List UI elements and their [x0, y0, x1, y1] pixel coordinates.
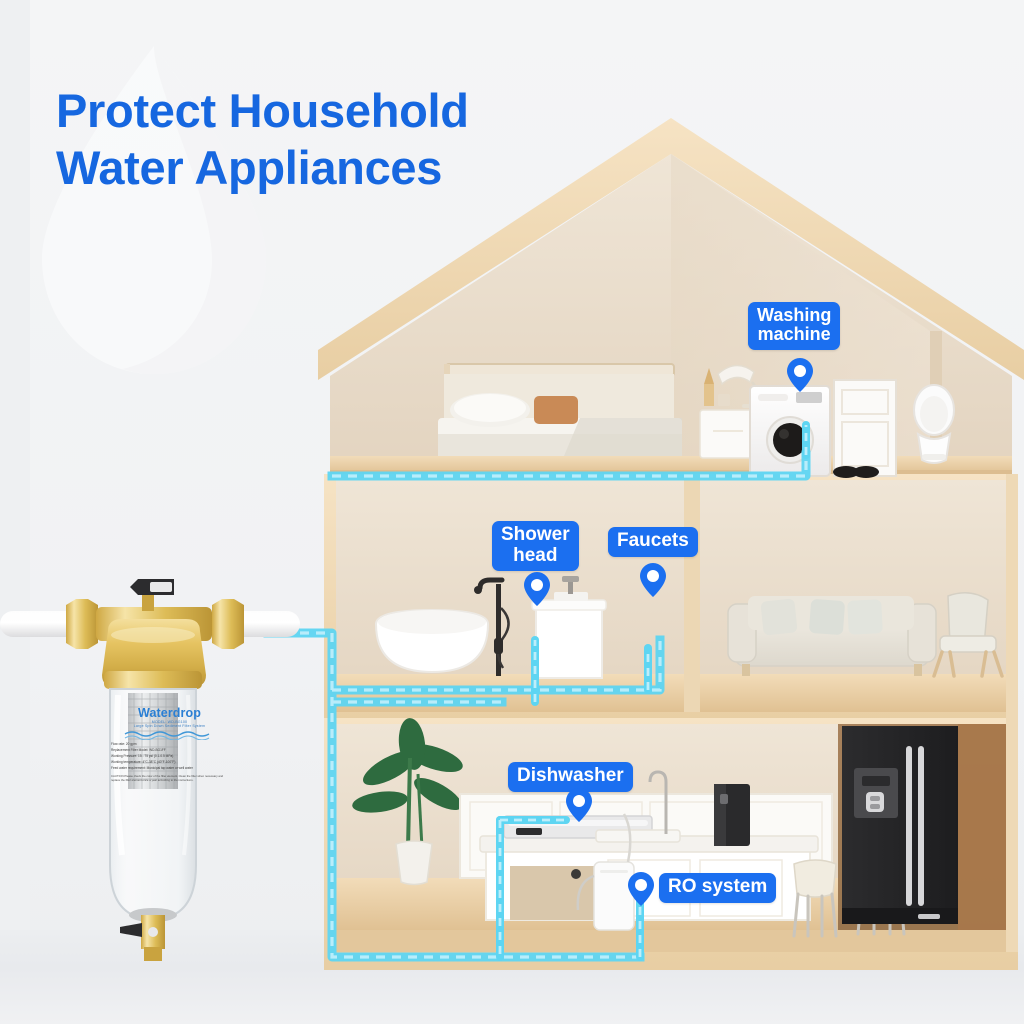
brand-name: Waterdrop: [111, 706, 228, 720]
house-right-edge: [1006, 474, 1018, 952]
valve-handle: [120, 923, 142, 937]
callout-faucets[interactable]: Faucets: [608, 527, 698, 557]
livingroom-floor: [700, 674, 1006, 712]
recess-wood-panel: [958, 724, 1006, 930]
cushions: [760, 598, 883, 635]
callout-washing-machine[interactable]: Washing machine: [748, 302, 840, 350]
caution-text: Please check the color of the filter ele…: [111, 774, 223, 783]
map-pin-icon: [640, 563, 666, 597]
map-pin-icon: [524, 572, 550, 606]
pressure-gauge: [130, 579, 174, 611]
sofa: [728, 596, 936, 676]
wave-divider-icon: [124, 730, 216, 740]
refrigerator: [842, 726, 958, 924]
caution-note: CAUTION Please check the color of the fi…: [111, 774, 228, 784]
map-pin-icon: [787, 358, 813, 392]
spec-item: Feed water requirement: Municipal tap wa…: [111, 766, 228, 772]
nightstand: [700, 410, 756, 458]
product-spec-label: Waterdrop MODEL: WD-BG100 Large Spin Dow…: [111, 706, 228, 821]
flush-valve: [120, 908, 177, 961]
ground-base-slab: [336, 930, 1018, 952]
callout-shower-head[interactable]: Shower head: [492, 521, 579, 571]
bed: [438, 364, 682, 456]
infographic-canvas: Protect Household Water Appliances: [0, 0, 1024, 1024]
map-pin-icon: [566, 788, 592, 822]
caution-title: CAUTION: [111, 774, 124, 778]
water-dispenser: [714, 784, 750, 846]
paneled-door: [834, 380, 896, 476]
toilet: [914, 385, 954, 463]
washing-machine: [750, 386, 830, 476]
bathroom-floor: [336, 674, 684, 712]
inlet-hex-nut: [66, 599, 98, 649]
filter-collar: [104, 671, 202, 689]
callout-ro-system[interactable]: RO system: [659, 873, 776, 903]
outlet-hex-nut: [212, 599, 244, 649]
bathtub: [376, 610, 488, 672]
map-pin-icon: [628, 872, 654, 906]
accent-pillow: [534, 396, 578, 424]
system-line: Large Spin Down Sediment Filter System: [111, 724, 228, 728]
spec-list: Flow rate: 20 gpm Replacement Filter Mod…: [111, 742, 228, 772]
middle-divider-wall: [684, 480, 700, 712]
